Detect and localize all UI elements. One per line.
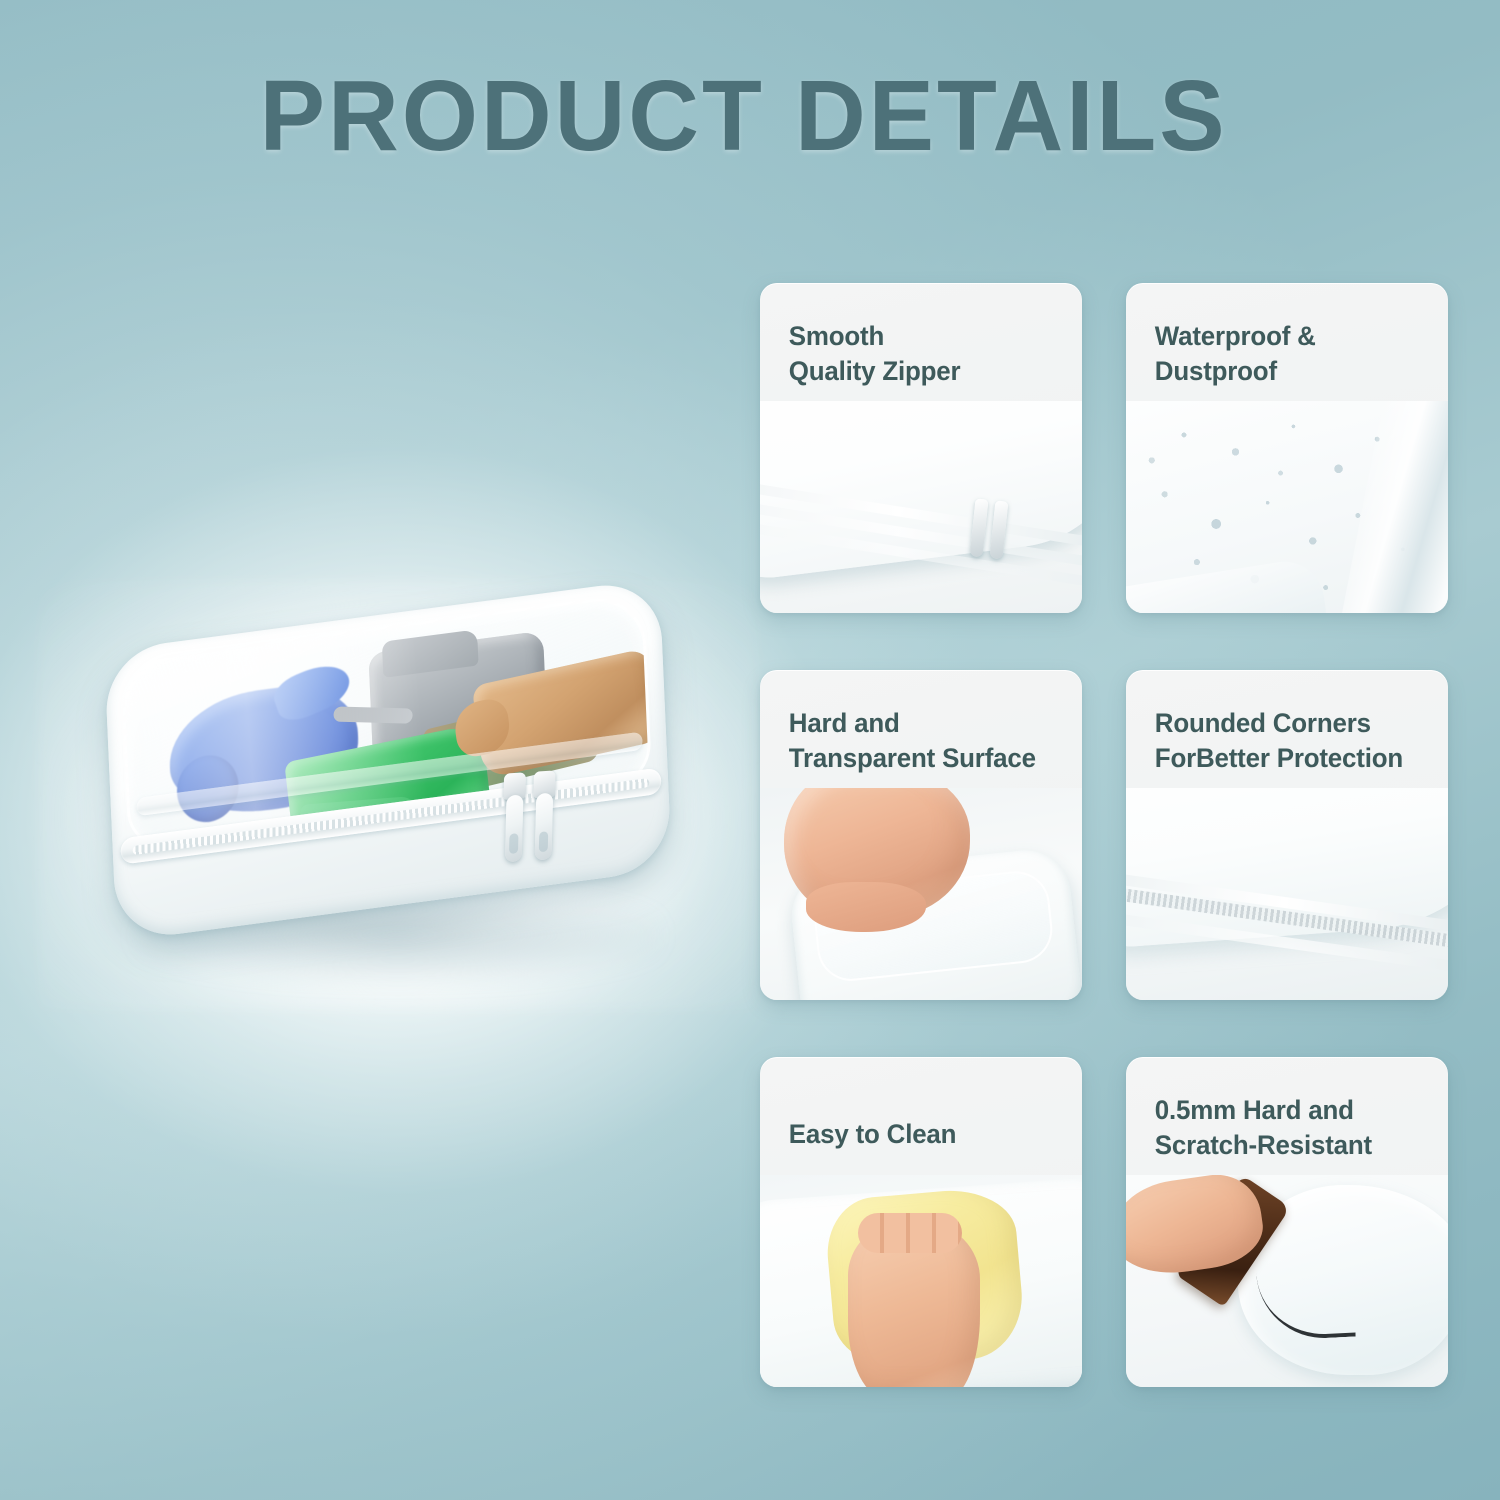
feature-card-easy-to-clean: Easy to Clean — [760, 1057, 1082, 1387]
zipper-pulls — [501, 769, 575, 882]
hand-wiping-image — [760, 1175, 1082, 1387]
feature-title: 0.5mm Hard and Scratch-Resistant — [1126, 1057, 1435, 1163]
case-edge-highlight — [1335, 401, 1448, 613]
zipper-pull-right — [532, 770, 556, 864]
water-droplets-image — [1126, 401, 1448, 613]
feature-title: Waterproof & Dustproof — [1126, 283, 1435, 389]
feature-card-scratch-resistant: 0.5mm Hard and Scratch-Resistant — [1126, 1057, 1448, 1387]
rounded-corner-image — [1126, 788, 1448, 1000]
feature-card-hard-transparent-surface: Hard and Transparent Surface — [760, 670, 1082, 1000]
feature-card-smooth-quality-zipper: Smooth Quality Zipper — [760, 283, 1082, 613]
zipper-corner-closeup-image — [760, 401, 1082, 613]
feature-title: Rounded Corners ForBetter Protection — [1126, 670, 1435, 776]
fist-pressing-lid-image — [760, 788, 1082, 1000]
feature-card-grid: Smooth Quality Zipper Waterproof & Dustp… — [760, 283, 1448, 1387]
feature-title: Smooth Quality Zipper — [760, 283, 1069, 389]
zipper-pull-left — [502, 772, 526, 866]
feature-card-waterproof-dustproof: Waterproof & Dustproof — [1126, 283, 1448, 613]
page-title: PRODUCT DETAILS — [234, 62, 1253, 170]
zipper-pull-tab — [505, 795, 524, 863]
zipper-pulls-pair — [969, 498, 1030, 569]
feature-card-rounded-corners: Rounded Corners ForBetter Protection — [1126, 670, 1448, 1000]
feature-title: Easy to Clean — [760, 1057, 1069, 1152]
zipper-pull-tab — [535, 793, 554, 861]
knife-scratching-image — [1126, 1175, 1448, 1387]
case-lower-edge — [1126, 556, 1332, 613]
hero-product-image — [78, 560, 718, 1020]
infographic-stage: PRODUCT DETAILS — [0, 0, 1500, 1500]
feature-title: Hard and Transparent Surface — [760, 670, 1069, 776]
hand — [848, 1223, 980, 1387]
